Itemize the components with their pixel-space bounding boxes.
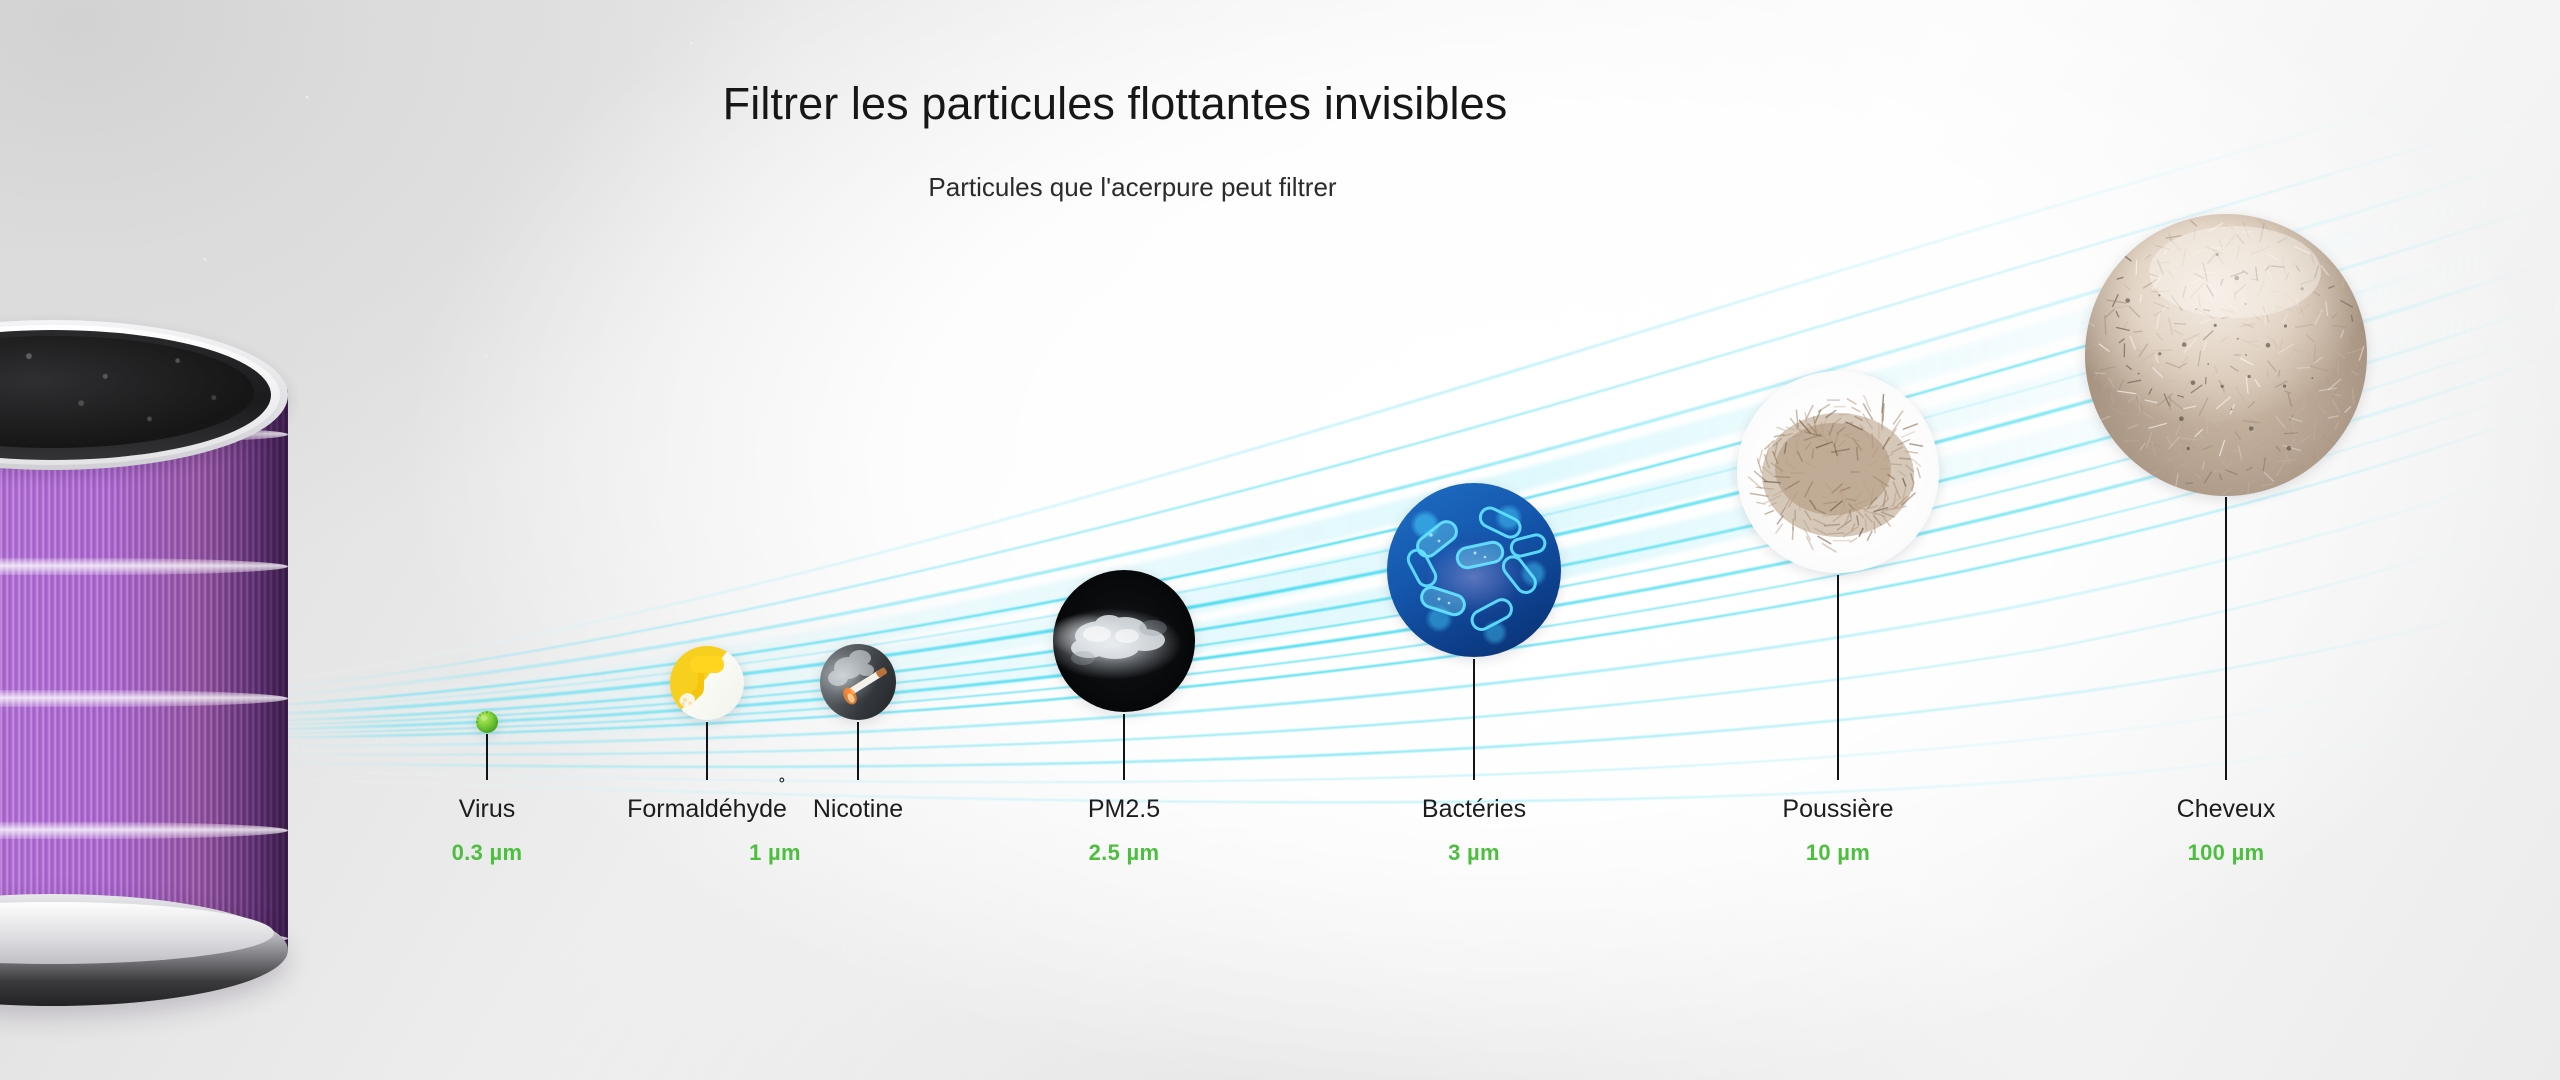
filter-band-3 xyxy=(0,690,288,707)
leader-line-formaldehyde xyxy=(706,722,708,780)
filter-band-4 xyxy=(0,822,288,839)
page-subtitle: Particules que l'acerpure peut filtrer xyxy=(0,172,2560,203)
page-title: Filtrer les particules flottantes invisi… xyxy=(0,78,2560,130)
leader-line-nicotine xyxy=(857,722,859,780)
particle-bubble-hair xyxy=(2085,214,2367,496)
particle-bubble-virus xyxy=(476,711,498,733)
particle-bubble-pm25 xyxy=(1053,570,1195,712)
particle-bubble-nicotine xyxy=(820,644,896,720)
particle-size-value-dust: 10 µm xyxy=(1638,840,2038,866)
leader-line-dust xyxy=(1837,575,1839,780)
particle-label-bacteria: Bactéries xyxy=(1274,795,1674,824)
hair-lint-icon xyxy=(2085,214,2367,496)
leader-line-bacteria xyxy=(1473,659,1475,780)
infographic-canvas: Filtrer les particules flottantes invisi… xyxy=(0,0,2560,1080)
leader-line-virus xyxy=(486,734,488,780)
particle-size-value-formaldehyde: 1 µm xyxy=(575,840,975,866)
bacteria-icon xyxy=(1387,483,1561,657)
filter-band-2 xyxy=(0,558,288,575)
cigarette-icon xyxy=(820,644,896,720)
smoke-icon xyxy=(1053,570,1195,712)
leader-line-hair xyxy=(2225,497,2227,780)
paint-roller-icon xyxy=(670,646,744,720)
particle-label-hair: Cheveux xyxy=(2026,795,2426,824)
particle-label-pm25: PM2.5 xyxy=(924,795,1324,824)
particle-size-value-bacteria: 3 µm xyxy=(1274,840,1674,866)
hepa-filter-cylinder xyxy=(0,320,288,1010)
airflow-streams xyxy=(0,0,2560,1080)
particle-bubble-dust xyxy=(1737,371,1939,573)
virus-icon xyxy=(476,711,498,733)
particle-bubble-formaldehyde xyxy=(670,646,744,720)
particle-label-dust: Poussière xyxy=(1638,795,2038,824)
particle-bubble-bacteria xyxy=(1387,483,1561,657)
particle-size-value-hair: 100 µm xyxy=(2026,840,2426,866)
particle-size-value-pm25: 2.5 µm xyxy=(924,840,1324,866)
dust-ball-icon xyxy=(1737,371,1939,573)
leader-line-pm25 xyxy=(1123,714,1125,780)
